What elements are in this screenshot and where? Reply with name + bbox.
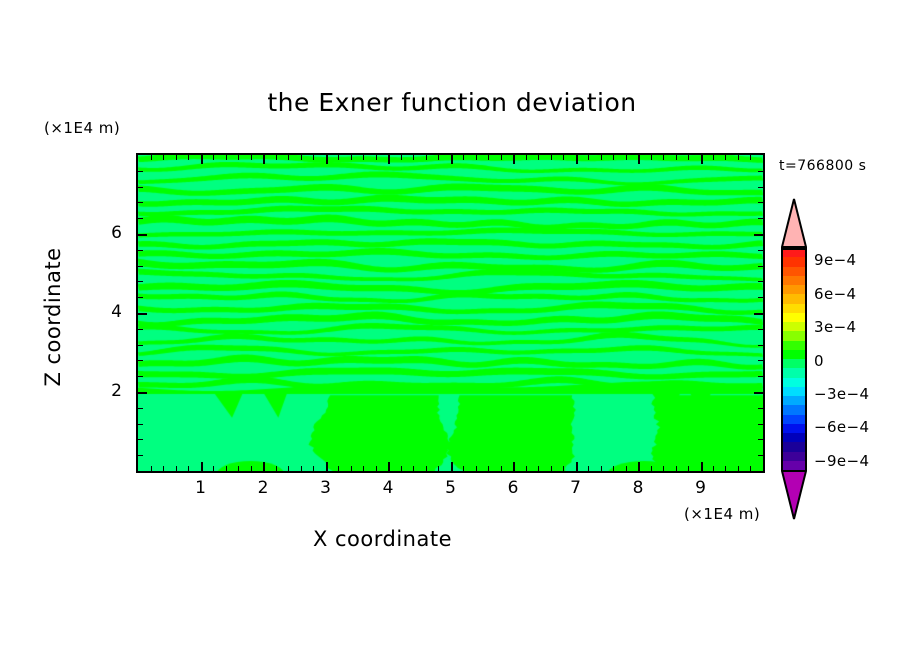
- axis-tick: [758, 408, 763, 409]
- y-tick-label: 4: [96, 302, 122, 322]
- axis-tick: [251, 155, 252, 160]
- axis-tick: [638, 462, 640, 471]
- axis-tick: [463, 155, 464, 160]
- axis-tick: [376, 466, 377, 471]
- axis-tick: [213, 466, 214, 471]
- axis-tick: [488, 466, 489, 471]
- axis-tick: [326, 462, 328, 471]
- axis-tick: [163, 155, 164, 160]
- axis-tick: [576, 155, 578, 164]
- axis-tick: [263, 155, 265, 164]
- axis-tick: [754, 392, 763, 394]
- axis-tick: [588, 466, 589, 471]
- axis-tick: [301, 466, 302, 471]
- axis-tick: [538, 466, 539, 471]
- colorbar-top-arrow: [781, 198, 807, 248]
- axis-tick: [138, 329, 143, 330]
- axis-tick: [488, 155, 489, 160]
- axis-tick: [363, 466, 364, 471]
- axis-tick: [563, 466, 564, 471]
- axis-tick: [238, 155, 239, 160]
- axis-tick: [758, 218, 763, 219]
- axis-tick: [276, 466, 277, 471]
- x-tick-label: 9: [681, 478, 721, 498]
- axis-tick: [138, 392, 147, 394]
- axis-tick: [501, 155, 502, 160]
- axis-tick: [601, 466, 602, 471]
- axis-tick: [613, 466, 614, 471]
- axis-tick: [413, 155, 414, 160]
- axis-tick: [613, 155, 614, 160]
- axis-tick: [754, 313, 763, 315]
- axis-tick: [451, 462, 453, 471]
- axis-tick: [363, 155, 364, 160]
- axis-tick: [758, 266, 763, 267]
- axis-tick: [376, 155, 377, 160]
- axis-tick: [176, 155, 177, 160]
- axis-tick: [138, 313, 147, 315]
- y-tick-label: 6: [96, 223, 122, 243]
- axis-tick: [754, 234, 763, 236]
- axis-tick: [758, 439, 763, 440]
- axis-tick: [138, 376, 143, 377]
- axis-tick: [138, 360, 143, 361]
- x-tick-label: 4: [368, 478, 408, 498]
- axis-tick: [138, 234, 147, 236]
- x-tick-label: 1: [181, 478, 221, 498]
- axis-tick: [138, 281, 143, 282]
- axis-tick: [426, 466, 427, 471]
- x-tick-label: 8: [618, 478, 658, 498]
- time-annotation: t=766800 s: [779, 158, 866, 174]
- axis-tick: [426, 155, 427, 160]
- axis-tick: [138, 455, 143, 456]
- axis-tick: [338, 466, 339, 471]
- axis-tick: [288, 466, 289, 471]
- axis-tick: [176, 466, 177, 471]
- colorbar[interactable]: [781, 248, 807, 470]
- x-axis-title: X coordinate: [0, 527, 765, 551]
- axis-tick: [413, 466, 414, 471]
- axis-tick: [476, 155, 477, 160]
- axis-tick: [238, 466, 239, 471]
- contour-field: [138, 155, 763, 471]
- axis-tick: [701, 155, 703, 164]
- x-tick-label: 5: [431, 478, 471, 498]
- axis-tick: [676, 466, 677, 471]
- axis-tick: [738, 155, 739, 160]
- axis-tick: [758, 424, 763, 425]
- axis-tick: [588, 155, 589, 160]
- axis-tick: [538, 155, 539, 160]
- y-axis-unit-label: (×1E4 m): [44, 119, 120, 137]
- colorbar-tick-label: −9e−4: [814, 452, 869, 470]
- axis-tick: [201, 462, 203, 471]
- axis-tick: [663, 466, 664, 471]
- axis-tick: [251, 466, 252, 471]
- axis-tick: [138, 408, 143, 409]
- axis-tick: [438, 155, 439, 160]
- axis-tick: [201, 155, 203, 164]
- colorbar-tick-label: 0: [814, 352, 824, 370]
- axis-tick: [758, 345, 763, 346]
- axis-tick: [276, 155, 277, 160]
- x-tick-label: 3: [306, 478, 346, 498]
- axis-tick: [138, 439, 143, 440]
- axis-tick: [151, 466, 152, 471]
- y-tick-label: 2: [96, 381, 122, 401]
- x-tick-label: 7: [556, 478, 596, 498]
- axis-tick: [551, 155, 552, 160]
- axis-tick: [676, 155, 677, 160]
- axis-tick: [151, 155, 152, 160]
- axis-tick: [758, 202, 763, 203]
- colorbar-tick-label: −6e−4: [814, 418, 869, 436]
- figure-canvas: the Exner function deviation (×1E4 m) (×…: [0, 0, 904, 654]
- axis-tick: [513, 155, 515, 164]
- axis-tick: [138, 171, 143, 172]
- page-title: the Exner function deviation: [0, 88, 904, 117]
- axis-tick: [758, 376, 763, 377]
- axis-tick: [758, 250, 763, 251]
- axis-tick: [513, 462, 515, 471]
- axis-tick: [725, 466, 726, 471]
- axis-tick: [750, 155, 751, 160]
- x-tick-label: 2: [243, 478, 283, 498]
- axis-tick: [626, 466, 627, 471]
- axis-tick: [451, 155, 453, 164]
- axis-tick: [725, 155, 726, 160]
- axis-tick: [388, 155, 390, 164]
- axis-tick: [288, 155, 289, 160]
- axis-tick: [738, 466, 739, 471]
- colorbar-tick-label: 3e−4: [814, 318, 856, 336]
- axis-tick: [388, 462, 390, 471]
- axis-tick: [138, 218, 143, 219]
- axis-tick: [401, 466, 402, 471]
- axis-tick: [758, 329, 763, 330]
- x-tick-label: 6: [493, 478, 533, 498]
- axis-tick: [188, 155, 189, 160]
- axis-tick: [758, 360, 763, 361]
- x-axis-unit-label: (×1E4 m): [684, 505, 760, 523]
- axis-tick: [351, 155, 352, 160]
- axis-tick: [188, 466, 189, 471]
- axis-tick: [688, 466, 689, 471]
- axis-tick: [313, 466, 314, 471]
- axis-tick: [463, 466, 464, 471]
- axis-tick: [476, 466, 477, 471]
- colorbar-tick-label: 9e−4: [814, 251, 856, 269]
- axis-tick: [138, 187, 143, 188]
- axis-tick: [138, 424, 143, 425]
- axis-tick: [651, 155, 652, 160]
- axis-tick: [438, 466, 439, 471]
- axis-tick: [138, 250, 143, 251]
- y-axis-title: Z coordinate: [41, 187, 65, 447]
- axis-tick: [638, 155, 640, 164]
- axis-tick: [563, 155, 564, 160]
- axis-tick: [138, 345, 143, 346]
- axis-tick: [213, 155, 214, 160]
- axis-tick: [663, 155, 664, 160]
- axis-tick: [501, 466, 502, 471]
- colorbar-bottom-arrow: [781, 470, 807, 520]
- axis-tick: [758, 281, 763, 282]
- axis-tick: [758, 297, 763, 298]
- axis-tick: [326, 155, 328, 164]
- colorbar-tick-label: 6e−4: [814, 285, 856, 303]
- axis-tick: [351, 466, 352, 471]
- axis-tick: [401, 155, 402, 160]
- colorbar-tick-label: −3e−4: [814, 385, 869, 403]
- axis-tick: [758, 455, 763, 456]
- axis-tick: [226, 466, 227, 471]
- axis-tick: [601, 155, 602, 160]
- axis-tick: [701, 462, 703, 471]
- axis-tick: [750, 466, 751, 471]
- axis-tick: [713, 155, 714, 160]
- axis-tick: [313, 155, 314, 160]
- plot-area: [136, 153, 765, 473]
- axis-tick: [713, 466, 714, 471]
- axis-tick: [526, 155, 527, 160]
- axis-tick: [576, 462, 578, 471]
- axis-tick: [651, 466, 652, 471]
- axis-tick: [226, 155, 227, 160]
- axis-tick: [163, 466, 164, 471]
- axis-tick: [301, 155, 302, 160]
- axis-tick: [688, 155, 689, 160]
- axis-tick: [138, 202, 143, 203]
- axis-tick: [758, 171, 763, 172]
- axis-tick: [138, 297, 143, 298]
- axis-tick: [138, 266, 143, 267]
- axis-tick: [551, 466, 552, 471]
- axis-tick: [758, 187, 763, 188]
- axis-tick: [338, 155, 339, 160]
- axis-tick: [626, 155, 627, 160]
- axis-tick: [263, 462, 265, 471]
- axis-tick: [526, 466, 527, 471]
